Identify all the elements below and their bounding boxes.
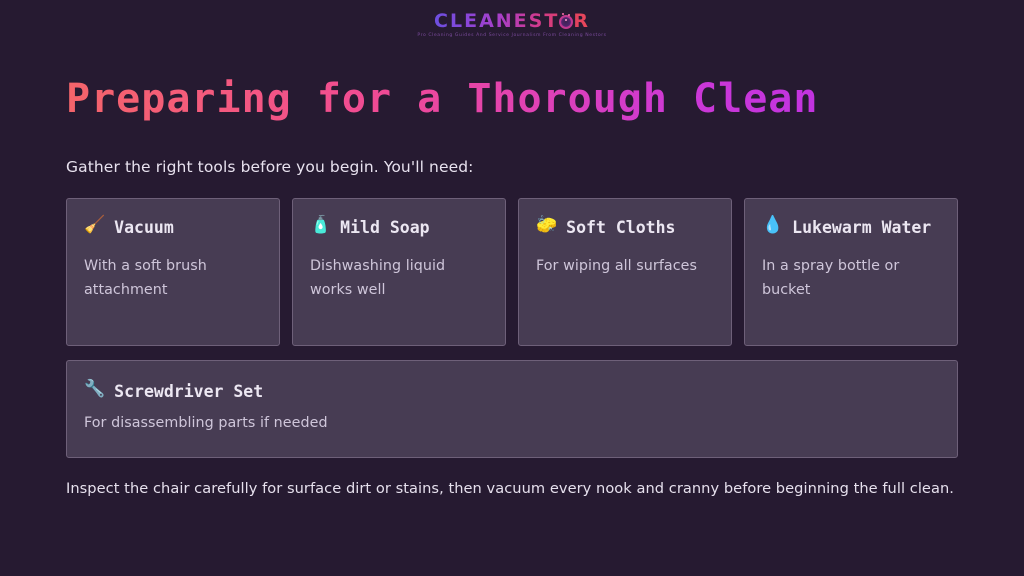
tool-card-grid: 🧹 Vacuum With a soft brush attachment 🧴 … [66,198,958,346]
page-title: Preparing for a Thorough Clean [66,74,818,124]
tool-card: 🔧 Screwdriver Set For disassembling part… [66,360,958,458]
brand-tagline: Pro Cleaning Guides And Service Journali… [0,34,1024,39]
tool-card-description: In a spray bottle or bucket [762,254,940,303]
brand-logo-text-end: R [573,10,590,32]
tool-card-wide-row: 🔧 Screwdriver Set For disassembling part… [66,360,958,458]
footer-note: Inspect the chair carefully for surface … [66,478,958,500]
brand-logo-text-start: CLEANEST [434,10,559,32]
broom-icon: 🧹 [84,215,105,235]
brand-logo-o-ring [559,15,573,29]
tool-card: 🧹 Vacuum With a soft brush attachment [66,198,280,346]
tool-card-header: 🔧 Screwdriver Set [84,379,940,405]
tool-card: 🧽 Soft Cloths For wiping all surfaces [518,198,732,346]
wrench-icon: 🔧 [84,379,105,399]
tool-card-description: For wiping all surfaces [536,254,714,279]
tool-card-header: 🧽 Soft Cloths [536,215,714,241]
brand-logo-wordmark: CLEANESTR [434,12,590,31]
slide-root: CLEANESTR Pro Cleaning Guides And Servic… [0,0,1024,576]
tool-card-description: With a soft brush attachment [84,254,262,303]
water-drop-icon: 💧 [762,215,783,235]
tool-card-title: Soft Cloths [566,215,675,241]
tool-card-description: Dishwashing liquid works well [310,254,488,303]
tool-card-header: 🧹 Vacuum [84,215,262,241]
tool-card-title: Lukewarm Water [792,215,931,241]
brand-logo: CLEANESTR Pro Cleaning Guides And Servic… [0,12,1024,39]
tool-card: 💧 Lukewarm Water In a spray bottle or bu… [744,198,958,346]
tool-card-header: 🧴 Mild Soap [310,215,488,241]
sponge-icon: 🧽 [536,215,557,235]
brand-logo-o-badge-icon [559,15,573,29]
tool-card: 🧴 Mild Soap Dishwashing liquid works wel… [292,198,506,346]
tool-card-header: 💧 Lukewarm Water [762,215,940,241]
tool-card-title: Mild Soap [340,215,429,241]
tool-card-title: Screwdriver Set [114,379,263,405]
tool-card-title: Vacuum [114,215,174,241]
tool-card-description: For disassembling parts if needed [84,411,940,436]
soap-bottle-icon: 🧴 [310,215,331,235]
intro-text: Gather the right tools before you begin.… [66,158,474,176]
